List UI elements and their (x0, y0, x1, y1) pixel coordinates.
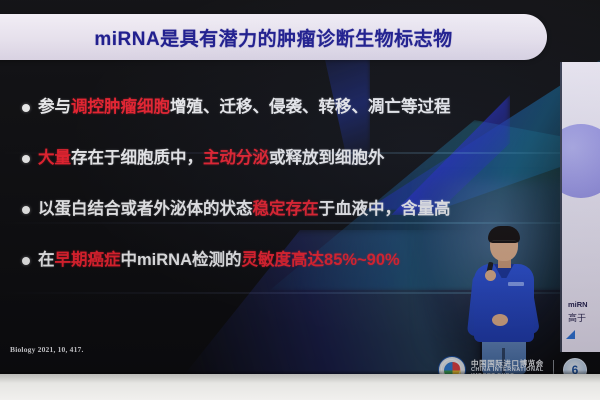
bullet-dot-icon (22, 206, 30, 214)
bullet-item: 以蛋白结合或者外泌体的状态稳定存在于血液中，含量高 (22, 200, 482, 219)
slide-citation: Biology 2021, 10, 417. (10, 345, 84, 354)
bullet-segment-highlight: 调控肿瘤细胞 (71, 98, 170, 116)
presenter-gesturing-hand (492, 314, 508, 326)
bullet-text: 大量存在于细胞质中，主动分泌或释放到细胞外 (38, 149, 385, 168)
bullet-item: 在早期癌症中miRNA检测的灵敏度高达85%~90% (22, 251, 482, 270)
bullet-segment: 参与 (38, 98, 71, 116)
bullet-text: 在早期癌症中miRNA检测的灵敏度高达85%~90% (38, 251, 400, 270)
bullet-item: 参与调控肿瘤细胞增殖、迁移、侵袭、转移、凋亡等过程 (22, 98, 482, 117)
presenter-hand-holding-mic (485, 270, 496, 281)
bullet-dot-icon (22, 155, 30, 163)
purple-circle-graphic (560, 124, 600, 198)
bullet-segment-highlight: 早期癌症 (55, 251, 121, 269)
slide-bullet-list: 参与调控肿瘤细胞增殖、迁移、侵袭、转移、凋亡等过程 大量存在于细胞质中，主动分泌… (22, 98, 482, 302)
bullet-dot-icon (22, 257, 30, 265)
bullet-segment: 或释放到细胞外 (269, 149, 385, 167)
bullet-segment: 在 (38, 251, 55, 269)
conference-photo: miRNA是具有潜力的肿瘤诊断生物标志物 参与调控肿瘤细胞增殖、迁移、侵袭、转移… (0, 0, 600, 400)
bullet-text: 参与调控肿瘤细胞增殖、迁移、侵袭、转移、凋亡等过程 (38, 98, 451, 117)
bullet-segment-highlight: 大量 (38, 149, 71, 167)
bullet-segment: 存在于细胞质中， (71, 149, 203, 167)
secondary-screen-text-en: miRN (568, 300, 600, 309)
bullet-segment-highlight: 主动分泌 (203, 149, 269, 167)
secondary-screen-text-cn: 高于 (568, 311, 600, 324)
glasses-icon (492, 240, 516, 246)
projection-screen: miRNA是具有潜力的肿瘤诊断生物标志物 参与调控肿瘤细胞增殖、迁移、侵袭、转移… (0, 0, 600, 374)
bullet-segment-highlight: 稳定存在 (253, 200, 319, 218)
bullet-segment: 以蛋白结合或者外泌体的状态 (38, 200, 253, 218)
slide-title-bar: miRNA是具有潜力的肿瘤诊断生物标志物 (0, 14, 547, 60)
stage-floor (0, 374, 600, 400)
bullet-dot-icon (22, 104, 30, 112)
secondary-screen-panel: miRN 高于 (560, 62, 600, 352)
bullet-segment: 于血液中，含量高 (319, 200, 451, 218)
bullet-segment: 中miRNA检测的 (121, 251, 242, 269)
secondary-screen-accent-icon (566, 330, 575, 339)
bullet-text: 以蛋白结合或者外泌体的状态稳定存在于血液中，含量高 (38, 200, 451, 219)
presenter-shirt-badge (508, 282, 524, 286)
slide-title: miRNA是具有潜力的肿瘤诊断生物标志物 (94, 24, 452, 51)
bullet-segment-highlight: 灵敏度高达85%~90% (242, 251, 400, 269)
presenter (468, 228, 540, 374)
bullet-item: 大量存在于细胞质中，主动分泌或释放到细胞外 (22, 149, 482, 168)
secondary-screen-text: miRN 高于 (568, 300, 600, 324)
bullet-segment: 增殖、迁移、侵袭、转移、凋亡等过程 (170, 98, 451, 116)
